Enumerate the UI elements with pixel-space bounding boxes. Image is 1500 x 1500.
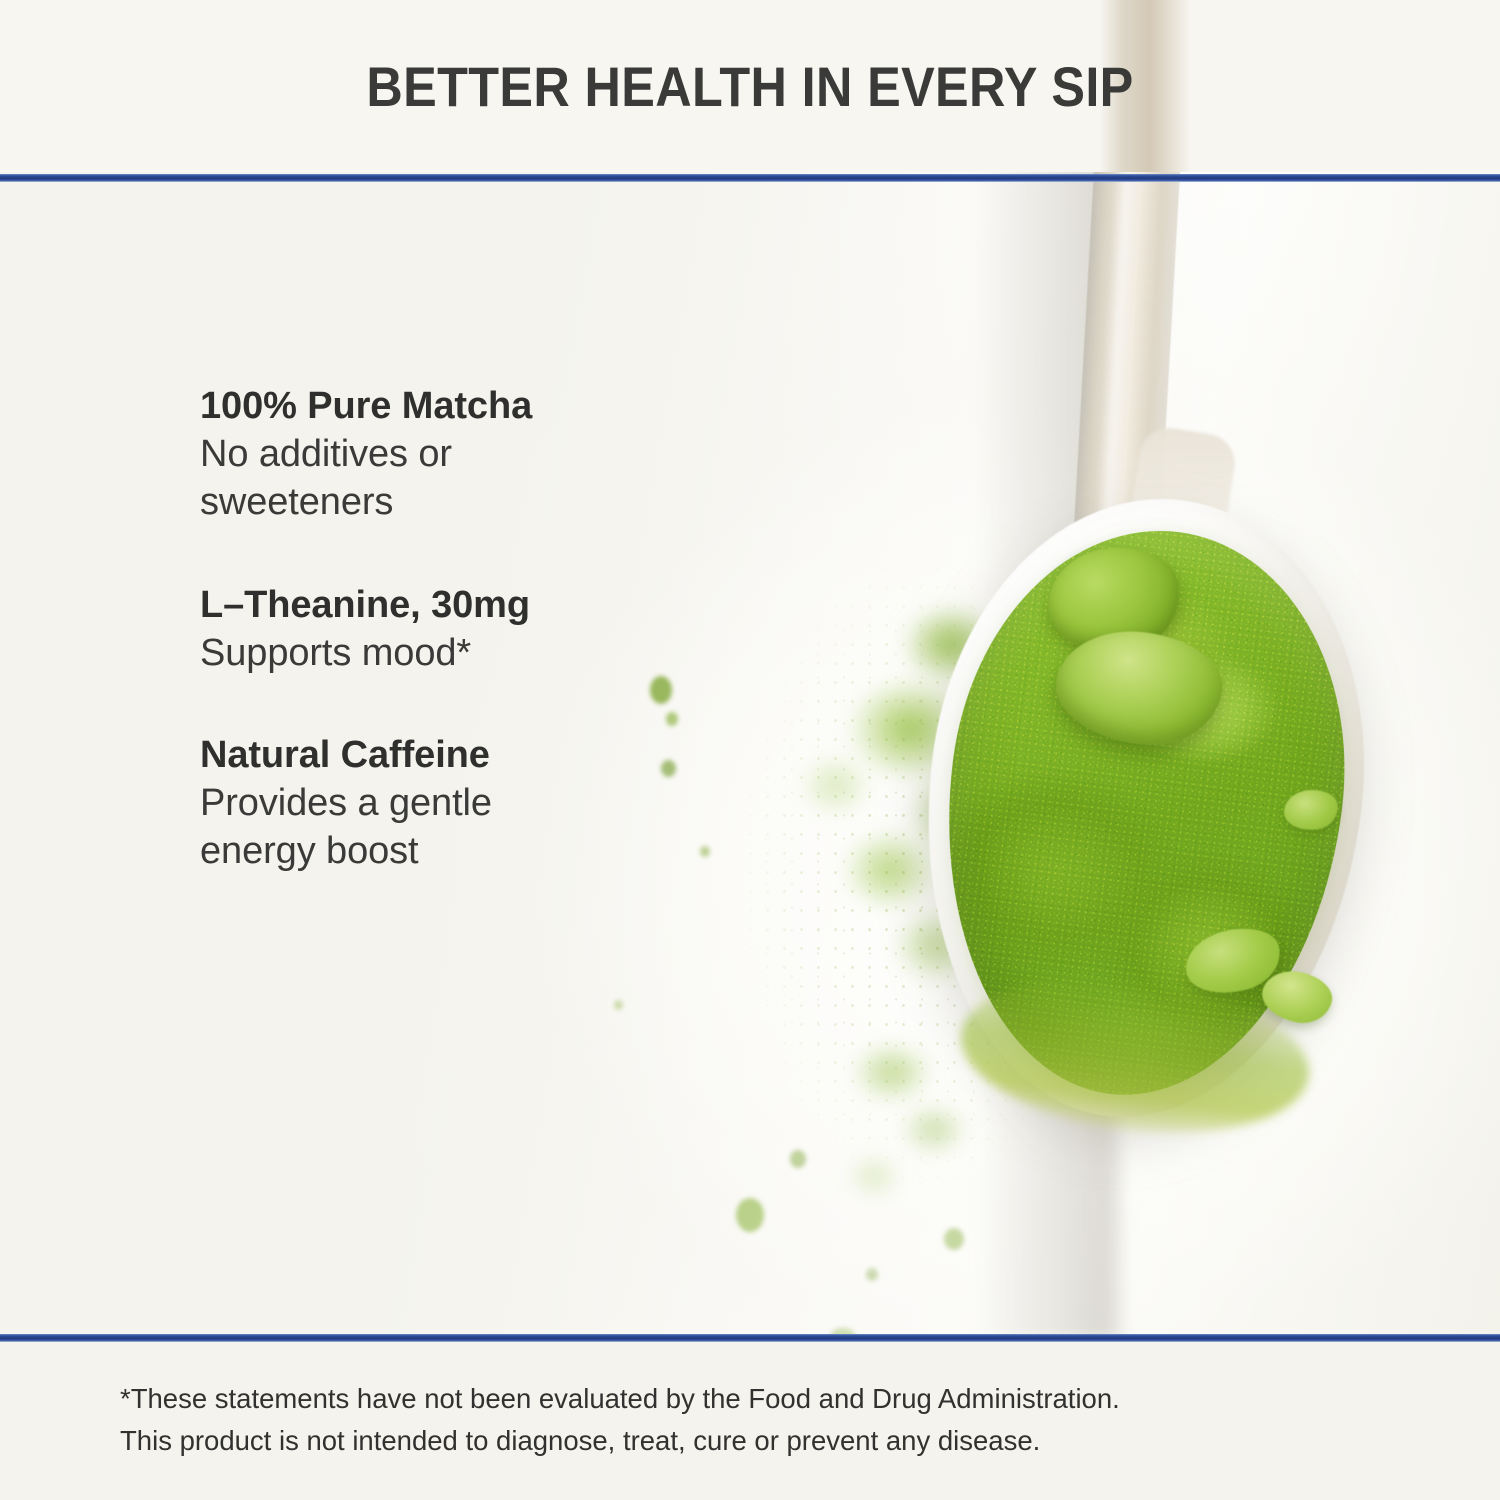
disclaimer-line-2: This product is not intended to diagnose… xyxy=(120,1420,1400,1462)
matcha-speck xyxy=(661,760,676,777)
divider-top xyxy=(0,174,1500,182)
page-title: BETTER HEALTH IN EVERY SIP xyxy=(75,0,1425,172)
feature-item-pure-matcha: 100% Pure Matcha No additives or sweeten… xyxy=(200,383,560,527)
matcha-speck xyxy=(944,1228,964,1250)
matcha-speck xyxy=(666,712,678,726)
matcha-speck xyxy=(790,1150,806,1168)
feature-description: Provides a gentle energy boost xyxy=(200,780,560,876)
feature-title: Natural Caffeine xyxy=(200,732,560,780)
matcha-speck xyxy=(866,1268,878,1281)
fda-disclaimer: *These statements have not been evaluate… xyxy=(120,1378,1400,1462)
feature-title: 100% Pure Matcha xyxy=(200,383,560,431)
divider-bottom xyxy=(0,1334,1500,1342)
matcha-speck xyxy=(614,1000,623,1010)
product-infographic-poster: BETTER HEALTH IN EVERY SIP 100% Pure Mat… xyxy=(0,0,1500,1500)
feature-item-natural-caffeine: Natural Caffeine Provides a gentle energ… xyxy=(200,732,560,876)
matcha-speck xyxy=(700,846,710,857)
feature-item-l-theanine: L–Theanine, 30mg Supports mood* xyxy=(200,582,560,678)
feature-title: L–Theanine, 30mg xyxy=(200,582,560,630)
feature-description: No additives or sweeteners xyxy=(200,431,560,527)
disclaimer-line-1: *These statements have not been evaluate… xyxy=(120,1378,1400,1420)
feature-list: 100% Pure Matcha No additives or sweeten… xyxy=(200,383,560,876)
matcha-speck xyxy=(736,1198,764,1232)
matcha-speck xyxy=(650,676,672,704)
feature-description: Supports mood* xyxy=(200,630,560,678)
